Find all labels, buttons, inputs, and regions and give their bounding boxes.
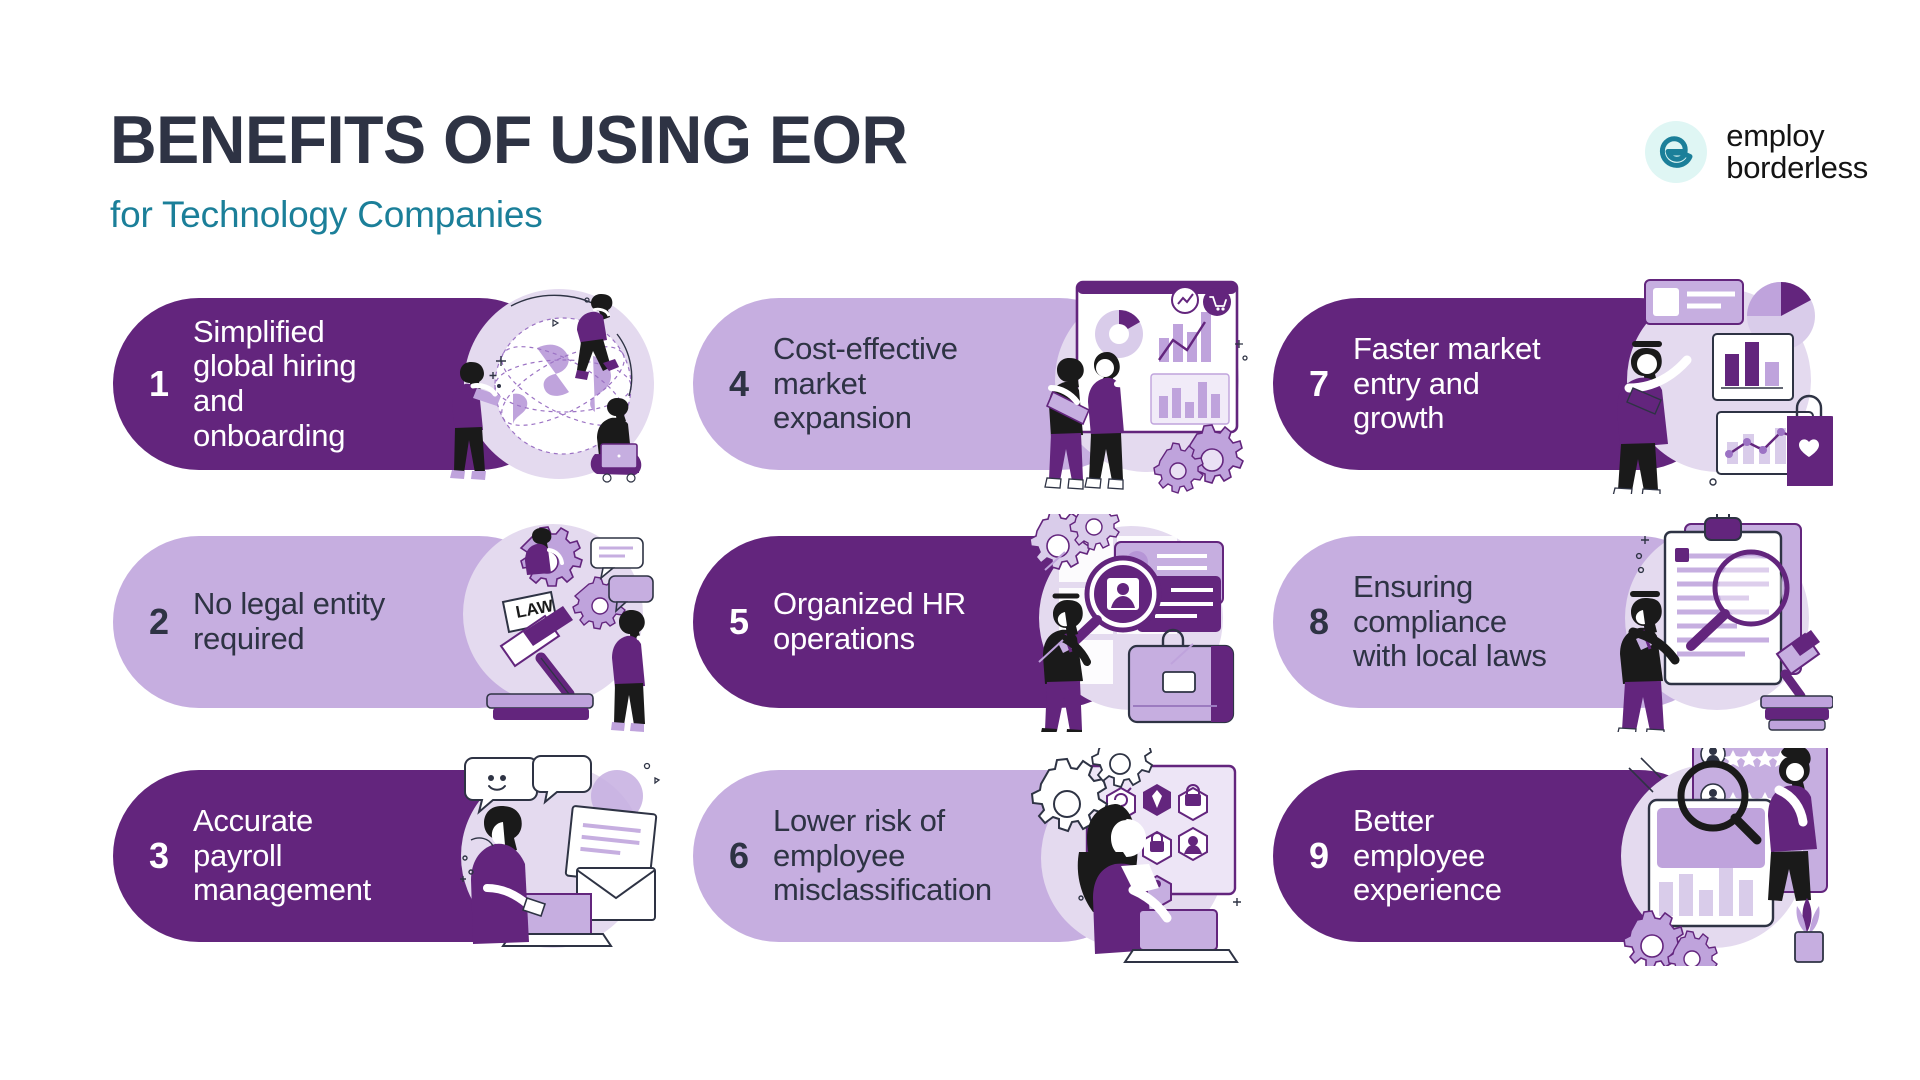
- benefit-card-2[interactable]: 2 No legal entity required: [113, 514, 673, 732]
- benefit-card-9[interactable]: 9 Better employee experience: [1273, 748, 1833, 966]
- benefit-pill-2[interactable]: 2 No legal entity required: [113, 536, 565, 708]
- benefit-card-6[interactable]: 6 Lower risk of employee misclassificati…: [693, 748, 1253, 966]
- header: BENEFITS OF USING EOR for Technology Com…: [0, 0, 1920, 270]
- benefit-card-1[interactable]: 1 Simplified global hiring and onboardin…: [113, 276, 673, 494]
- page-subtitle: for Technology Companies: [110, 196, 543, 233]
- benefit-label-3: Accurate payroll management: [193, 804, 551, 908]
- benefit-number-6: 6: [711, 838, 767, 874]
- benefit-pill-1[interactable]: 1 Simplified global hiring and onboardin…: [113, 298, 565, 470]
- employ-borderless-e-icon: [1644, 120, 1708, 184]
- benefit-label-6: Lower risk of employee misclassification: [773, 804, 1131, 908]
- benefit-number-9: 9: [1291, 838, 1347, 874]
- benefit-card-8[interactable]: 8 Ensuring compliance with local laws: [1273, 514, 1833, 732]
- benefit-label-4: Cost-effective market expansion: [773, 332, 1131, 436]
- benefit-card-3[interactable]: 3 Accurate payroll management: [113, 748, 673, 966]
- benefit-label-7: Faster market entry and growth: [1353, 332, 1711, 436]
- benefit-pill-5[interactable]: 5 Organized HR operations: [693, 536, 1145, 708]
- benefit-number-7: 7: [1291, 366, 1347, 402]
- benefit-card-4[interactable]: 4 Cost-effective market expansion: [693, 276, 1253, 494]
- benefit-pill-3[interactable]: 3 Accurate payroll management: [113, 770, 565, 942]
- benefit-number-1: 1: [131, 366, 187, 402]
- benefit-label-5: Organized HR operations: [773, 587, 1131, 656]
- benefit-pill-9[interactable]: 9 Better employee experience: [1273, 770, 1725, 942]
- benefit-label-1: Simplified global hiring and onboarding: [193, 315, 551, 454]
- benefit-number-2: 2: [131, 604, 187, 640]
- logo-wordmark: employ borderless: [1726, 120, 1868, 183]
- logo-line-2: borderless: [1726, 152, 1868, 184]
- benefit-number-8: 8: [1291, 604, 1347, 640]
- benefit-pill-8[interactable]: 8 Ensuring compliance with local laws: [1273, 536, 1725, 708]
- benefit-pill-4[interactable]: 4 Cost-effective market expansion: [693, 298, 1145, 470]
- brand-logo: employ borderless: [1644, 120, 1868, 184]
- benefit-label-2: No legal entity required: [193, 587, 551, 656]
- benefit-card-5[interactable]: 5 Organized HR operations: [693, 514, 1253, 732]
- benefit-number-5: 5: [711, 604, 767, 640]
- benefits-grid: 1 Simplified global hiring and onboardin…: [0, 276, 1920, 976]
- benefit-card-7[interactable]: 7 Faster market entry and growth: [1273, 276, 1833, 494]
- benefit-number-3: 3: [131, 838, 187, 874]
- benefit-pill-6[interactable]: 6 Lower risk of employee misclassificati…: [693, 770, 1145, 942]
- benefit-label-8: Ensuring compliance with local laws: [1353, 570, 1711, 674]
- benefit-pill-7[interactable]: 7 Faster market entry and growth: [1273, 298, 1725, 470]
- page-title: BENEFITS OF USING EOR: [110, 106, 908, 174]
- infographic-page: BENEFITS OF USING EOR for Technology Com…: [0, 0, 1920, 1080]
- logo-line-1: employ: [1726, 120, 1868, 152]
- benefit-label-9: Better employee experience: [1353, 804, 1711, 908]
- benefit-number-4: 4: [711, 366, 767, 402]
